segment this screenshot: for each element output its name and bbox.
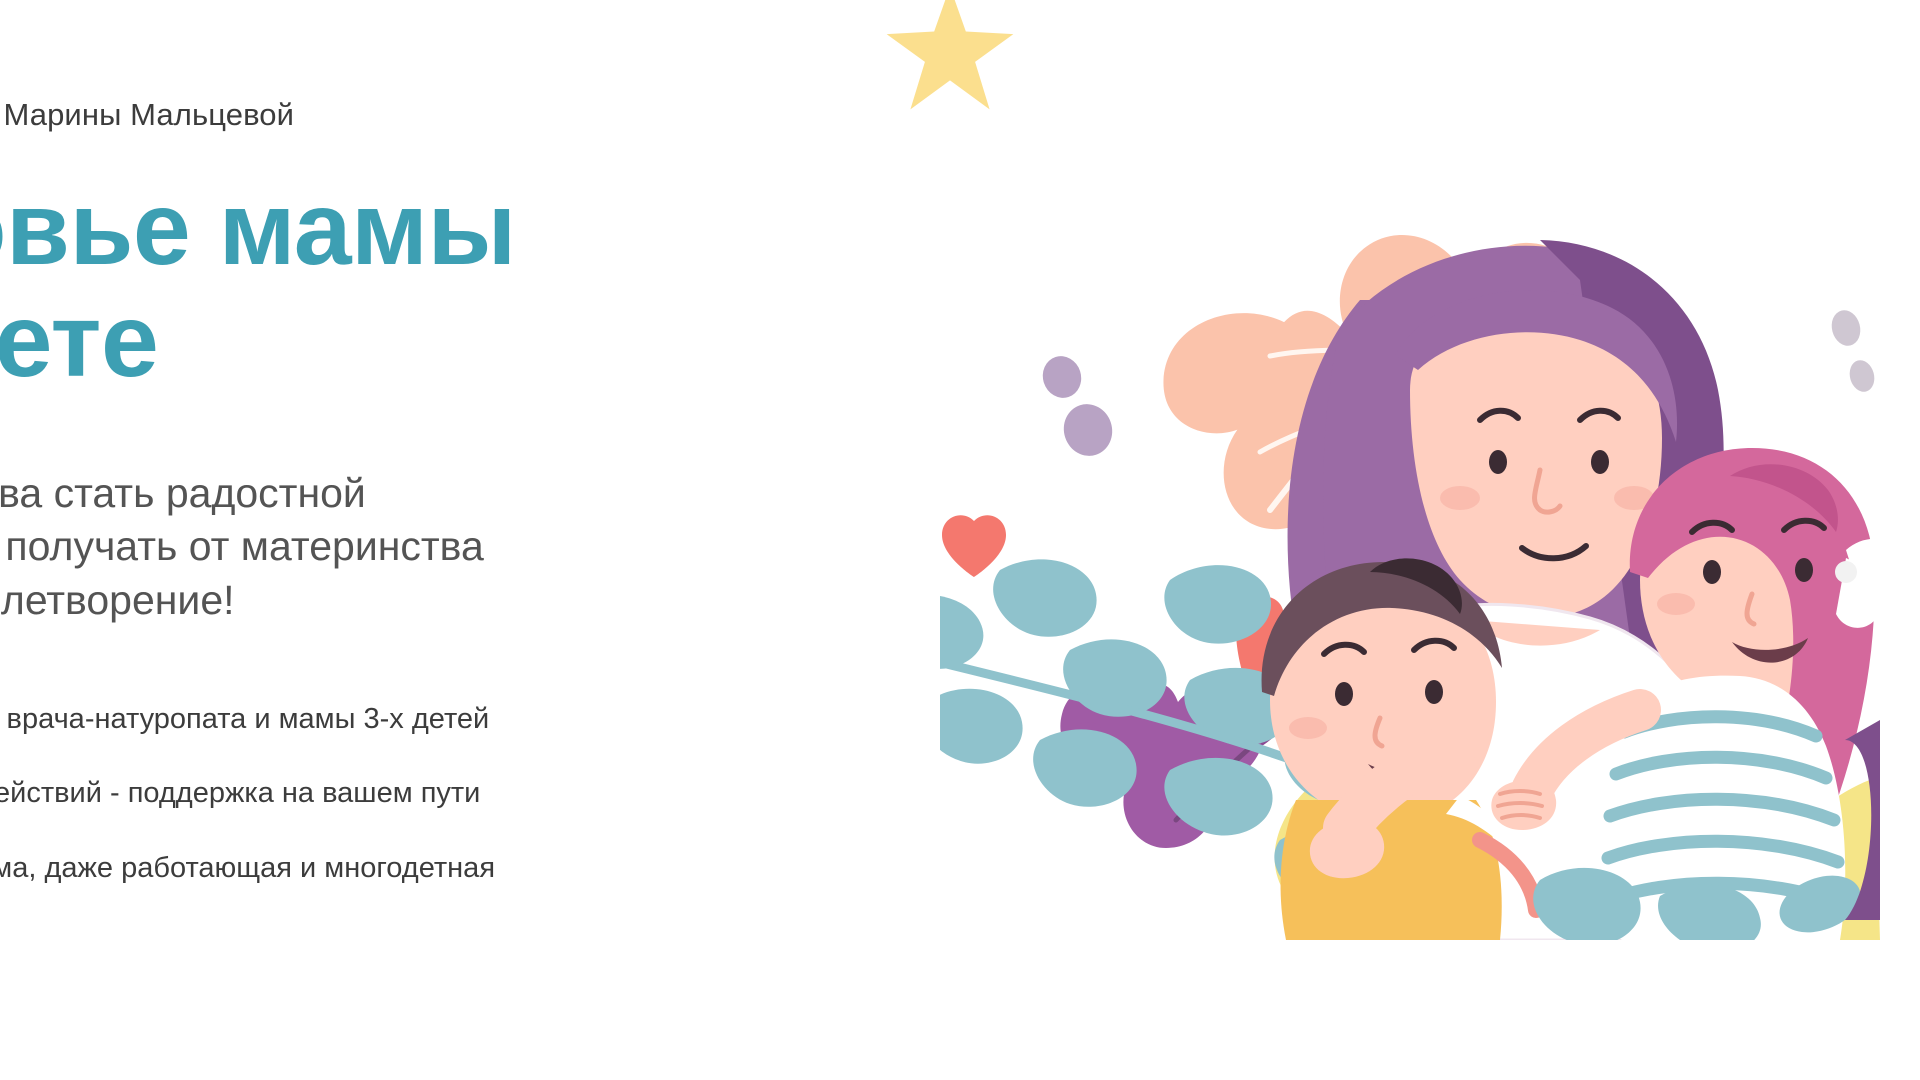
hero-text-column: уропата Марины Мальцевой ровье мамы крет… — [0, 96, 880, 925]
list-item: й план действий - поддержка на вашем пут… — [0, 775, 880, 812]
boy-eye-left — [1335, 682, 1353, 706]
girl-eye-left — [1703, 560, 1721, 584]
list-item: ждая мама, даже работающая и многодетная — [0, 850, 880, 887]
hero-subtitle-line-2: ной, и получать от материнства — [0, 520, 880, 573]
grey-dot-group — [1828, 307, 1878, 395]
girl-eye-right — [1795, 558, 1813, 582]
benefit-list: ользы от врача-натуропата и мамы 3-х дет… — [0, 701, 880, 887]
lilac-dot-group — [1037, 351, 1118, 462]
girl-blush-left — [1657, 593, 1695, 615]
hero-section: уропата Марины Мальцевой ровье мамы крет… — [0, 0, 1920, 1080]
boy-eye-right — [1425, 680, 1443, 704]
mother-eye-left — [1489, 450, 1507, 474]
hero-subtitle-line-1: ак снова стать радостной — [0, 467, 880, 520]
eyebrow-text: уропата Марины Мальцевой — [0, 96, 880, 135]
mother-eye-right — [1591, 450, 1609, 474]
page-title-line-2: крете — [0, 285, 880, 397]
page-title-line-1: ровье мамы — [0, 171, 516, 287]
list-item: ользы от врача-натуропата и мамы 3-х дет… — [0, 701, 880, 738]
hero-subtitle: ак снова стать радостной ной, и получать… — [0, 467, 880, 627]
page-title: ровье мамы крете — [0, 173, 880, 398]
mother-blush-left — [1440, 486, 1480, 510]
boy-blush-left — [1289, 717, 1327, 739]
mother-with-two-children-illustration — [940, 180, 1880, 940]
star-icon — [884, 0, 1016, 116]
hero-subtitle-line-3: е удовлетворение! — [0, 574, 880, 627]
